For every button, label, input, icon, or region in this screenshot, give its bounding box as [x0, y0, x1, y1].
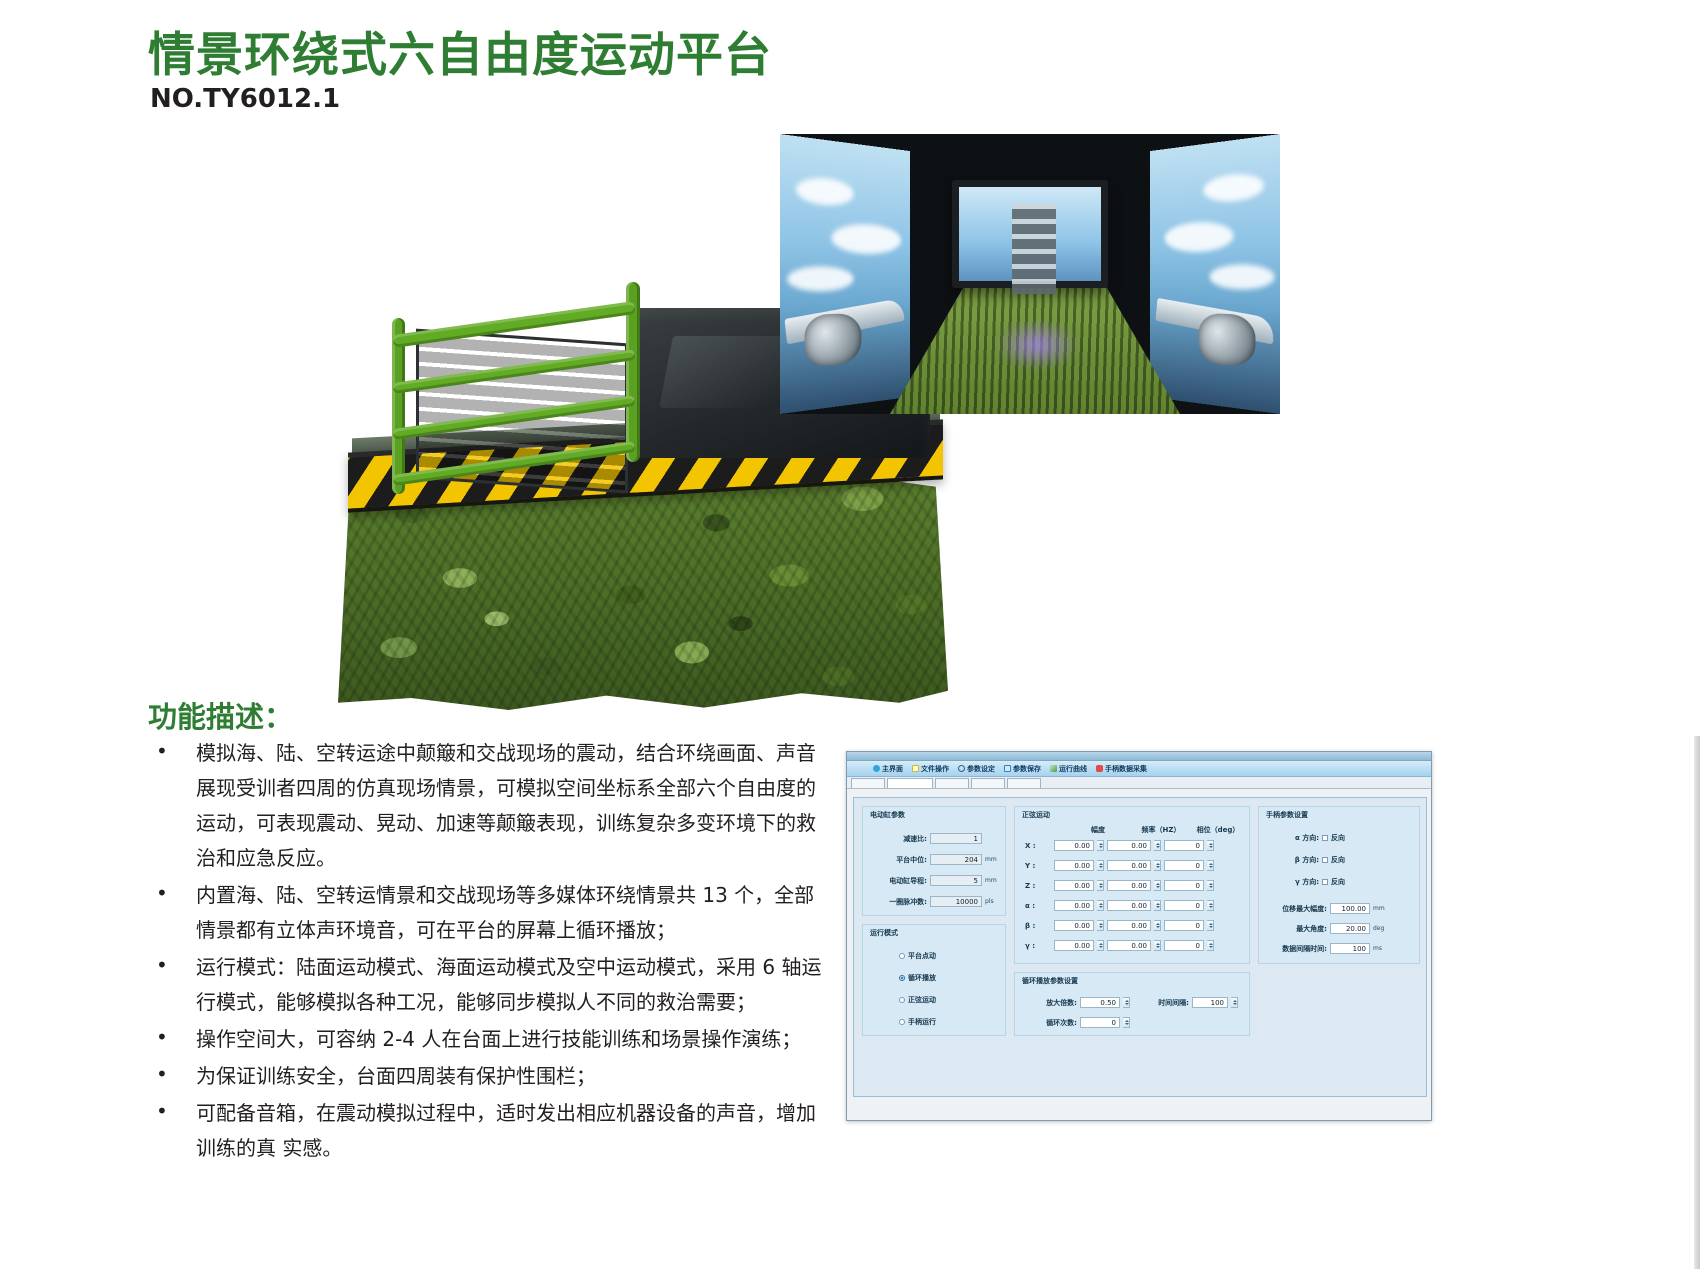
table-row: β : 0.00 0.00 0 [1025, 920, 1214, 931]
field-label: 平台中位: [869, 855, 927, 865]
table-row: Z : 0.00 0.00 0 [1025, 880, 1214, 891]
list-item: 为保证训练安全，台面四周装有保护性围栏； [150, 1059, 830, 1094]
field-label: 最大角度: [1265, 924, 1327, 934]
toolbar-label: 手柄数据采集 [1105, 764, 1147, 774]
frequency-input-x[interactable]: 0.00 [1107, 840, 1151, 851]
cylinder-parameter-panel: 电动缸参数 减速比: 1 平台中位: 204 mm 电动缸导程: 5 mm 一圈… [862, 806, 1006, 916]
parameter-form: 电动缸参数 减速比: 1 平台中位: 204 mm 电动缸导程: 5 mm 一圈… [853, 797, 1427, 1097]
gamepad-icon [1096, 765, 1103, 772]
magnification-input[interactable]: 0.50 [1080, 997, 1120, 1008]
checkbox-beta-reverse[interactable] [1322, 857, 1328, 863]
table-row: α : 0.00 0.00 0 [1025, 900, 1214, 911]
spinner-icon[interactable] [1154, 900, 1161, 911]
direction-label: β 方向: [1271, 855, 1319, 865]
list-item: 内置海、陆、空转运情景和交战现场等多媒体环绕情景共 13 个，全部情景都有立体声… [150, 878, 830, 948]
phase-input-x[interactable]: 0 [1164, 840, 1204, 851]
phase-input-y[interactable]: 0 [1164, 860, 1204, 871]
toolbar-item-main-screen[interactable]: 主界面 [873, 764, 903, 774]
tab-placeholder[interactable] [935, 778, 969, 788]
toolbar-item-gamepad-capture[interactable]: 手柄数据采集 [1096, 764, 1147, 774]
radio-sine-motion[interactable]: 正弦运动 [899, 995, 936, 1005]
spinner-icon[interactable] [1207, 860, 1214, 871]
spinner-icon[interactable] [1154, 940, 1161, 951]
radio-label: 正弦运动 [908, 995, 936, 1005]
function-description-list: 模拟海、陆、空转运途中颠簸和交战现场的震动，结合环绕画面、声音展现受训者四周的仿… [150, 736, 830, 1168]
spinner-icon[interactable] [1207, 900, 1214, 911]
max-angle-input[interactable]: 20.00 [1330, 923, 1370, 934]
toolbar-label: 参数保存 [1013, 764, 1041, 774]
radio-icon [899, 997, 905, 1003]
spinner-icon[interactable] [1097, 920, 1104, 931]
curve-icon [1050, 765, 1057, 772]
axis-label: Y : [1025, 862, 1051, 870]
right-screen [1150, 134, 1280, 414]
home-icon [873, 765, 880, 772]
radio-icon [899, 953, 905, 959]
list-item: 操作空间大，可容纳 2-4 人在台面上进行技能训练和场景操作演练； [150, 1022, 830, 1057]
radio-gamepad-run[interactable]: 手柄运行 [899, 1017, 936, 1027]
direction-label: α 方向: [1271, 833, 1319, 843]
field-label: 电动缸导程: [869, 876, 927, 886]
unit-label: ms [1373, 945, 1382, 952]
tab-placeholder[interactable] [971, 778, 1005, 788]
radio-platform-jog[interactable]: 平台点动 [899, 951, 936, 961]
table-row: γ : 0.00 0.00 0 [1025, 940, 1214, 951]
toolbar-item-file-operation[interactable]: 文件操作 [912, 764, 949, 774]
unit-label: mm [985, 877, 997, 884]
toolbar-label: 运行曲线 [1059, 764, 1087, 774]
spinner-icon[interactable] [1097, 880, 1104, 891]
checkbox-label: 反向 [1331, 877, 1345, 887]
unit-label: deg [1373, 925, 1384, 932]
checkbox-label: 反向 [1331, 833, 1345, 843]
spinner-icon[interactable] [1097, 840, 1104, 851]
tab-placeholder[interactable] [1007, 778, 1041, 788]
amplitude-input-gamma[interactable]: 0.00 [1054, 940, 1094, 951]
tab-active[interactable] [887, 778, 933, 788]
spinner-icon[interactable] [1207, 940, 1214, 951]
spinner-icon[interactable] [1207, 840, 1214, 851]
frequency-input-y[interactable]: 0.00 [1107, 860, 1151, 871]
frequency-input-z[interactable]: 0.00 [1107, 880, 1151, 891]
spinner-icon[interactable] [1207, 920, 1214, 931]
aircraft-engine [1199, 313, 1256, 368]
panel-title: 循环播放参数设置 [1022, 976, 1078, 986]
field-label: 减速比: [869, 834, 927, 844]
spinner-icon[interactable] [1154, 840, 1161, 851]
checkbox-label: 反向 [1331, 855, 1345, 865]
spinner-icon[interactable] [1207, 880, 1214, 891]
amplitude-input-beta[interactable]: 0.00 [1054, 920, 1094, 931]
toolbar-item-parameter-save[interactable]: 参数保存 [1004, 764, 1041, 774]
frequency-input-beta[interactable]: 0.00 [1107, 920, 1151, 931]
field-label: 位移最大幅度: [1265, 904, 1327, 914]
list-item: 运行模式：陆面运动模式、海面运动模式及空中运动模式，采用 6 轴运行模式，能够模… [150, 950, 830, 1020]
amplitude-input-z[interactable]: 0.00 [1054, 880, 1094, 891]
reduction-ratio-input[interactable]: 1 [930, 833, 982, 844]
loop-playback-panel: 循环播放参数设置 放大倍数: 0.50 时间间隔: 100 循环次数: 0 [1014, 972, 1250, 1036]
tab-strip [847, 777, 1431, 789]
field-label: 一圈脉冲数: [869, 897, 927, 907]
toolbar-item-run-curve[interactable]: 运行曲线 [1050, 764, 1087, 774]
phase-input-z[interactable]: 0 [1164, 880, 1204, 891]
radio-icon [899, 975, 905, 981]
page-subtitle: NO.TY6012.1 [150, 84, 340, 114]
platform-midpoint-input[interactable]: 204 [930, 854, 982, 865]
aircraft-engine [805, 313, 862, 368]
tab-placeholder[interactable] [851, 778, 885, 788]
axis-label: Z : [1025, 882, 1051, 890]
spinner-icon[interactable] [1097, 940, 1104, 951]
amplitude-input-x[interactable]: 0.00 [1054, 840, 1094, 851]
table-row: Y : 0.00 0.00 0 [1025, 860, 1214, 871]
frequency-input-alpha[interactable]: 0.00 [1107, 900, 1151, 911]
product-photo [330, 120, 1280, 680]
field-label: 放大倍数: [1029, 998, 1077, 1008]
list-item: 模拟海、陆、空转运途中颠簸和交战现场的震动，结合环绕画面、声音展现受训者四周的仿… [150, 736, 830, 876]
toolbar-label: 参数设定 [967, 764, 995, 774]
file-icon [912, 765, 919, 772]
radio-label: 平台点动 [908, 951, 936, 961]
toolbar-label: 主界面 [882, 764, 903, 774]
platform-stairs [1012, 204, 1056, 294]
page-title: 情景环绕式六自由度运动平台 [148, 16, 772, 85]
surround-screen-montage [780, 134, 1280, 414]
panel-title: 运行模式 [870, 928, 898, 938]
control-software-window: 主界面 文件操作 参数设定 参数保存 运行曲线 手柄数据采集 [846, 751, 1432, 1121]
radio-label: 循环播放 [908, 973, 936, 983]
axis-label: γ : [1025, 942, 1051, 950]
axis-label: α : [1025, 902, 1051, 910]
checkbox-alpha-reverse[interactable] [1322, 835, 1328, 841]
function-description-heading: 功能描述： [148, 694, 293, 736]
table-row: X : 0.00 0.00 0 [1025, 840, 1214, 851]
phase-input-gamma[interactable]: 0 [1164, 940, 1204, 951]
panel-title: 电动缸参数 [870, 810, 905, 820]
save-icon [1004, 765, 1011, 772]
cylinder-lead-input[interactable]: 5 [930, 875, 982, 886]
panel-title: 手柄参数设置 [1266, 810, 1308, 820]
unit-label: pls [985, 898, 994, 905]
phase-input-alpha[interactable]: 0 [1164, 900, 1204, 911]
spinner-icon[interactable] [1097, 860, 1104, 871]
radio-loop-playback[interactable]: 循环播放 [899, 973, 936, 983]
toolbar-label: 文件操作 [921, 764, 949, 774]
spinner-icon[interactable] [1123, 1017, 1130, 1028]
unit-label: mm [985, 856, 997, 863]
column-header-frequency: 频率（HZ） [1132, 825, 1190, 835]
direction-label: γ 方向: [1271, 877, 1319, 887]
amplitude-input-alpha[interactable]: 0.00 [1054, 900, 1094, 911]
unit-label: mm [1373, 905, 1385, 912]
loop-count-input[interactable]: 0 [1080, 1017, 1120, 1028]
time-interval-input[interactable]: 100 [1192, 997, 1228, 1008]
radio-icon [899, 1019, 905, 1025]
spinner-icon[interactable] [1123, 997, 1130, 1008]
gamepad-parameter-panel: 手柄参数设置 α 方向: 反向 β 方向: 反向 γ 方向: 反向 位移最大幅度… [1258, 806, 1420, 964]
toolbar-item-parameter-setting[interactable]: 参数设定 [958, 764, 995, 774]
gear-icon [958, 765, 965, 772]
run-mode-panel: 运行模式 平台点动 循环播放 正弦运动 手柄运行 [862, 924, 1006, 1036]
pulses-per-revolution-input[interactable]: 10000 [930, 896, 982, 907]
spinner-icon[interactable] [1097, 900, 1104, 911]
page-edge-sliver [1694, 736, 1700, 1269]
list-item: 可配备音箱，在震动模拟过程中，适时发出相应机器设备的声音，增加训练的真 实感。 [150, 1096, 830, 1166]
panel-title: 正弦运动 [1022, 810, 1050, 820]
amplitude-input-y[interactable]: 0.00 [1054, 860, 1094, 871]
field-label: 时间间隔: [1141, 998, 1189, 1008]
axis-label: β : [1025, 922, 1051, 930]
column-header-phase: 相位（deg） [1191, 825, 1245, 835]
spinner-icon[interactable] [1154, 880, 1161, 891]
window-titlebar [847, 752, 1431, 761]
column-header-amplitude: 幅度 [1071, 825, 1125, 835]
floor-light-glow [995, 320, 1079, 370]
axis-label: X : [1025, 842, 1051, 850]
spinner-icon[interactable] [1154, 860, 1161, 871]
phase-input-beta[interactable]: 0 [1164, 920, 1204, 931]
frequency-input-gamma[interactable]: 0.00 [1107, 940, 1151, 951]
left-screen [780, 134, 910, 414]
data-interval-input[interactable]: 100 [1330, 943, 1370, 954]
radio-label: 手柄运行 [908, 1017, 936, 1027]
field-label: 循环次数: [1029, 1018, 1077, 1028]
spinner-icon[interactable] [1231, 997, 1238, 1008]
sine-motion-panel: 正弦运动 幅度 频率（HZ） 相位（deg） X : 0.00 0.00 0 Y… [1014, 806, 1250, 964]
checkbox-gamma-reverse[interactable] [1322, 879, 1328, 885]
max-displacement-input[interactable]: 100.00 [1330, 903, 1370, 914]
toolbar: 主界面 文件操作 参数设定 参数保存 运行曲线 手柄数据采集 [847, 761, 1431, 777]
field-label: 数据间隔时间: [1265, 944, 1327, 954]
spinner-icon[interactable] [1154, 920, 1161, 931]
